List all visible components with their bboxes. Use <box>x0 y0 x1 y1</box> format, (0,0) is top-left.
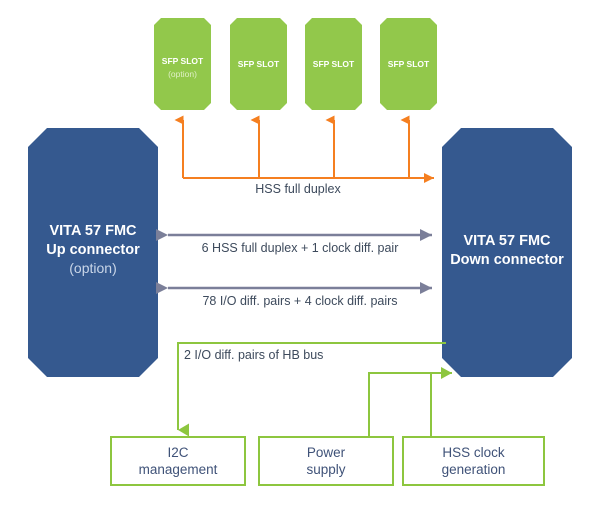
vita-up-connector-line2: Up connector <box>46 242 140 258</box>
power-supply-route <box>369 373 452 437</box>
vita-up-connector[interactable]: VITA 57 FMC Up connector (option) <box>28 128 158 377</box>
hss-clock-route <box>431 373 452 437</box>
box-hss-clock-generation-line2: generation <box>442 462 506 477</box>
sfp-slot-4-label: SFP SLOT <box>388 59 430 69</box>
vita-down-connector-line2: Down connector <box>450 252 564 268</box>
hb-bus-edge: 2 I/O diff. pairs of HB bus <box>178 343 446 430</box>
box-hss-clock-generation-line1: HSS clock <box>442 445 505 460</box>
box-i2c-management-line2: management <box>139 462 218 477</box>
vita-up-connector-line1: VITA 57 FMC <box>49 223 137 239</box>
bottom-boxes: I2C management Power supply HSS clock ge… <box>111 437 544 485</box>
hss-full-duplex-edge: HSS full duplex <box>183 120 434 196</box>
supply-clock-routes <box>369 373 452 437</box>
box-hss-clock-generation[interactable]: HSS clock generation <box>403 437 544 485</box>
sfp-slot-group: SFP SLOT (option) SFP SLOT SFP SLOT SFP … <box>154 18 437 110</box>
box-power-supply-line1: Power <box>307 445 346 460</box>
sfp-slot-3-label: SFP SLOT <box>313 59 355 69</box>
hb-bus-label: 2 I/O diff. pairs of HB bus <box>184 348 323 362</box>
io-78-pairs-edge: 78 I/O diff. pairs + 4 clock diff. pairs <box>168 288 432 308</box>
hss-6-duplex-edge: 6 HSS full duplex + 1 clock diff. pair <box>168 235 432 255</box>
box-power-supply[interactable]: Power supply <box>259 437 393 485</box>
vita-up-connector-line3: (option) <box>69 260 116 276</box>
vita-down-connector-line1: VITA 57 FMC <box>463 233 551 249</box>
diagram-svg: SFP SLOT (option) SFP SLOT SFP SLOT SFP … <box>0 0 600 509</box>
hss-6-duplex-label: 6 HSS full duplex + 1 clock diff. pair <box>202 241 399 255</box>
box-power-supply-line2: supply <box>306 462 345 477</box>
sfp-slot-1-label: SFP SLOT <box>162 56 204 66</box>
sfp-slot-3[interactable]: SFP SLOT <box>305 18 362 110</box>
vita-down-connector[interactable]: VITA 57 FMC Down connector <box>442 128 572 377</box>
sfp-slot-2[interactable]: SFP SLOT <box>230 18 287 110</box>
block-diagram-canvas: SFP SLOT (option) SFP SLOT SFP SLOT SFP … <box>0 0 600 509</box>
io-78-pairs-label: 78 I/O diff. pairs + 4 clock diff. pairs <box>202 294 397 308</box>
box-i2c-management-line1: I2C <box>167 445 188 460</box>
sfp-slot-1-sublabel: (option) <box>168 69 197 79</box>
box-i2c-management[interactable]: I2C management <box>111 437 245 485</box>
sfp-slot-2-label: SFP SLOT <box>238 59 280 69</box>
hss-full-duplex-label: HSS full duplex <box>255 182 341 196</box>
sfp-slot-4[interactable]: SFP SLOT <box>380 18 437 110</box>
sfp-slot-1[interactable]: SFP SLOT (option) <box>154 18 211 110</box>
